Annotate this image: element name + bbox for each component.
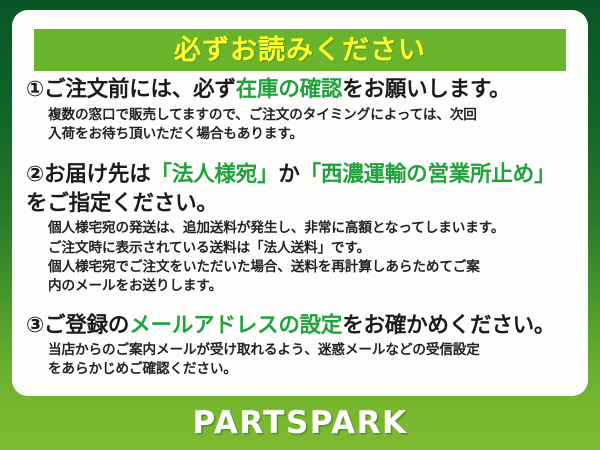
notice-item-2-heading: ②お届け先は「法人様宛」か「西濃運輸の営業所止め」をご指定ください。 bbox=[26, 161, 574, 218]
notice-item-1-marker: ① bbox=[26, 77, 44, 102]
footer-bar: PARTSPARK bbox=[0, 396, 600, 450]
brand-logo-text: PARTSPARK bbox=[192, 408, 407, 439]
notice-item-1-subtext: 複数の窓口で販売してますので、ご注文のタイミングによっては、次回 入荷をお待ち頂… bbox=[48, 106, 574, 145]
notice-item-3: ③ご登録のメールアドレスの設定をお確かめください。 当店からのご案内メールが受け… bbox=[26, 312, 574, 380]
notice-item-3-head-post: をお確かめください。 bbox=[342, 313, 555, 338]
notice-item-1-subtext-line-1: 複数の窓口で販売してますので、ご注文のタイミングによっては、次回 bbox=[48, 106, 574, 125]
spacer-2 bbox=[26, 299, 574, 312]
notice-item-3-heading: ③ご登録のメールアドレスの設定をお確かめください。 bbox=[26, 312, 574, 341]
notice-item-2-subtext-line-3: 個人様宅宛でご注文をいただいた場合、送料を再計算しあらためてご案 bbox=[48, 258, 574, 277]
notice-item-3-head-accent: メールアドレスの設定 bbox=[129, 313, 342, 338]
notice-item-2: ②お届け先は「法人様宛」か「西濃運輸の営業所止め」をご指定ください。 個人様宅宛… bbox=[26, 161, 574, 296]
notice-item-3-subtext-line-2: をあらかじめご確認ください。 bbox=[48, 360, 574, 379]
spacer-1 bbox=[26, 146, 574, 161]
notice-item-1-head-pre: ご注文前には、必ず bbox=[44, 77, 236, 102]
notice-item-2-subtext-line-1: 個人様宅宛の発送は、追加送料が発生し、非常に高額となってしまいます。 bbox=[48, 219, 574, 238]
notice-item-3-subtext: 当店からのご案内メールが受け取れるよう、迷惑メールなどの受信設定 をあらかじめご… bbox=[48, 341, 574, 380]
notice-item-3-subtext-line-1: 当店からのご案内メールが受け取れるよう、迷惑メールなどの受信設定 bbox=[48, 341, 574, 360]
notice-item-1-head-post: をお願いします。 bbox=[342, 77, 510, 102]
notice-item-2-marker: ② bbox=[26, 162, 44, 187]
notice-item-2-subtext: 個人様宅宛の発送は、追加送料が発生し、非常に高額となってしまいます。 ご注文時に… bbox=[48, 219, 574, 296]
notice-list: ①ご注文前には、必ず在庫の確認をお願いします。 複数の窓口で販売してますので、ご… bbox=[12, 76, 588, 382]
notice-item-3-marker: ③ bbox=[26, 313, 44, 338]
page-title: 必ずお読みください bbox=[174, 37, 426, 64]
notice-item-2-head-post: をご指定ください。 bbox=[26, 191, 218, 216]
notice-item-1-subtext-line-2: 入荷をお待ち頂いただく場合もあります。 bbox=[48, 125, 574, 144]
notice-item-2-head-mid: か bbox=[278, 162, 299, 187]
notice-poster: 必ずお読みください ①ご注文前には、必ず在庫の確認をお願いします。 複数の窓口で… bbox=[0, 0, 600, 450]
notice-item-2-head-accent-2: 「西濃運輸の営業所止め」 bbox=[300, 162, 556, 187]
header-bar: 必ずお読みください bbox=[34, 29, 566, 71]
notice-card: 必ずお読みください ①ご注文前には、必ず在庫の確認をお願いします。 複数の窓口で… bbox=[12, 10, 588, 396]
notice-item-2-head-pre: お届け先は bbox=[44, 162, 151, 187]
notice-item-1: ①ご注文前には、必ず在庫の確認をお願いします。 複数の窓口で販売してますので、ご… bbox=[26, 76, 574, 144]
notice-item-1-heading: ①ご注文前には、必ず在庫の確認をお願いします。 bbox=[26, 76, 574, 105]
notice-item-1-head-accent: 在庫の確認 bbox=[236, 77, 343, 102]
notice-item-2-subtext-line-2: ご注文時に表示されている送料は「法人送料」です。 bbox=[48, 239, 574, 258]
notice-item-2-head-accent: 「法人様宛」 bbox=[151, 162, 279, 187]
notice-item-2-subtext-line-4: 内のメールをお送りします。 bbox=[48, 277, 574, 296]
notice-item-3-head-pre: ご登録の bbox=[44, 313, 129, 338]
